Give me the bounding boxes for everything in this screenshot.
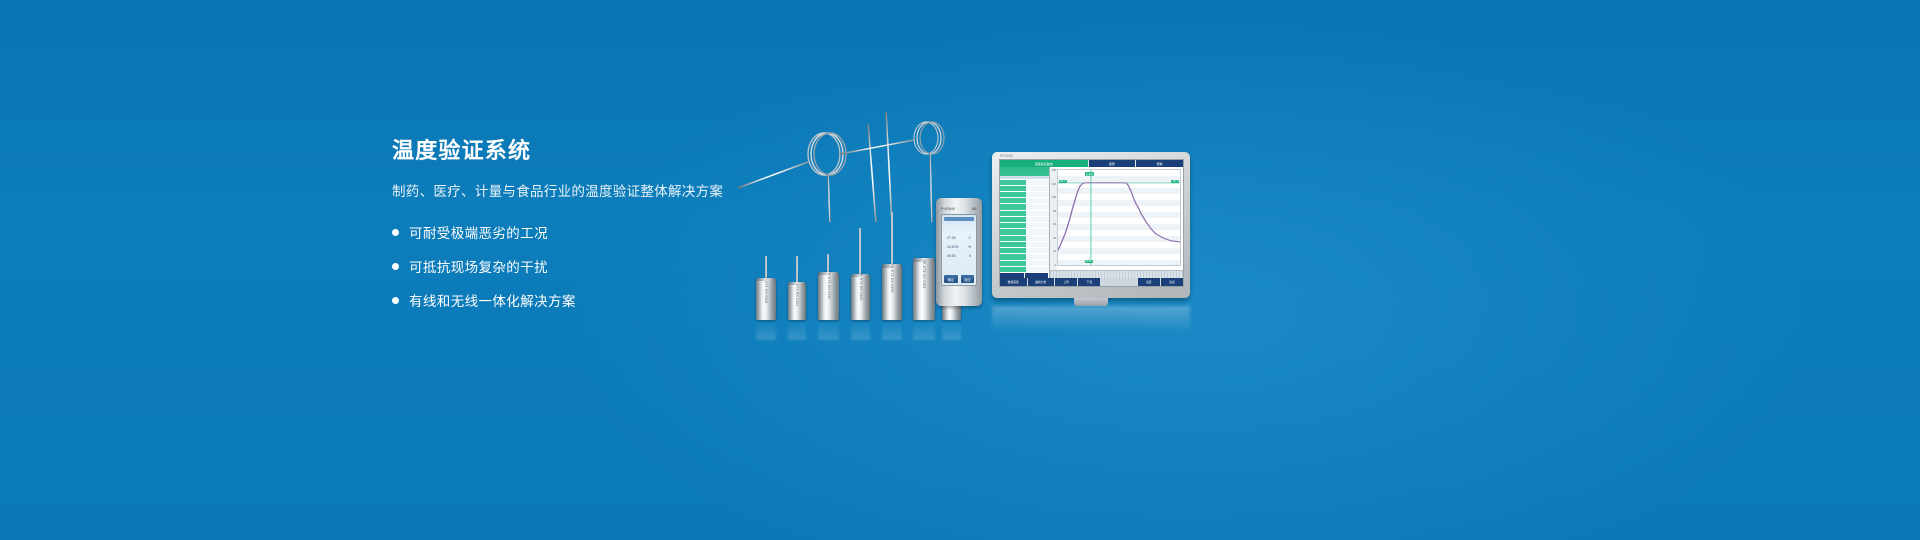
logger-label: PH-VT1 SN 0141 — [859, 272, 863, 301]
logger-label: PH-VT1 SN 0122 — [795, 278, 799, 307]
coil-probe-small — [840, 122, 944, 222]
handheld-brand: PHONIX — [941, 207, 955, 211]
button-exit[interactable]: 退出 — [1161, 278, 1183, 286]
monitor-brand: PHONIX — [1000, 154, 1013, 158]
limit-right-label: 121.0 — [1171, 180, 1179, 183]
product-image-group: PH-VT1 SN 0118 PH-VT1 SN 0122 PH-VT1 SN … — [700, 110, 1220, 320]
cursor-bottom-label: 00:00 — [1085, 260, 1093, 263]
y-tick: 80 — [1053, 210, 1056, 213]
software-screen: 温度验证曲线 报警 帮助 — [999, 159, 1184, 287]
button-spacer — [1101, 278, 1136, 286]
button-upload[interactable]: 上传 — [1055, 278, 1077, 286]
readout-label: 27.05 — [947, 236, 956, 240]
y-tick: 120 — [1052, 183, 1056, 186]
list-item-label: 可耐受极端恶劣的工况 — [409, 222, 548, 242]
data-logger: PH-VT1 SN 0156 — [882, 264, 902, 320]
bullet-dot-icon — [392, 297, 399, 304]
software-button-bar: 数据采集 曲线分析 上传 下载 设置 退出 — [1000, 278, 1183, 286]
data-logger: PH-VT1 SN 0163 — [913, 258, 935, 320]
coil-probe-large — [738, 133, 846, 222]
probe-stem — [827, 254, 829, 272]
handheld-screen: 27.05 C 10.10% % 00.00 h 确定 返回 — [941, 214, 977, 286]
handheld-statusbar — [944, 217, 974, 221]
list-item: 27.05 C — [947, 236, 971, 240]
button-settings[interactable]: 设置 — [1138, 278, 1160, 286]
y-tick: 20 — [1053, 250, 1056, 253]
probe-stem — [891, 212, 893, 264]
handheld-reader[interactable]: PHONIX M1 27.05 C 10.10% % 00.00 — [936, 198, 982, 306]
data-logger: PH-VT1 SN 0118 — [756, 278, 776, 320]
logger-label: PH-VT1 SN 0156 — [890, 264, 894, 293]
hero-banner: 温度验证系统 制药、医疗、计量与食品行业的温度验证整体解决方案 可耐受极端恶劣的… — [0, 0, 1920, 540]
list-item: 10.10% % — [947, 245, 971, 249]
readout-unit: h — [969, 254, 971, 258]
temperature-curve — [1058, 170, 1180, 265]
data-logger: PH-VT1 SN 0135 — [818, 272, 839, 320]
monitor-display: PHONIX 温度验证曲线 报警 帮助 — [992, 152, 1190, 298]
handheld-back-button[interactable]: 返回 — [961, 275, 975, 283]
probe-stem — [765, 256, 767, 278]
logger-label: PH-VT1 SN 0163 — [922, 259, 926, 288]
chart-scrollbar[interactable] — [1050, 270, 1183, 278]
table-body — [1000, 180, 1049, 274]
handheld-readout-list: 27.05 C 10.10% % 00.00 h — [944, 222, 974, 271]
cursor-top-label: 灭菌段 — [1085, 172, 1094, 176]
data-logger: PH-VT1 SN 0122 — [788, 282, 806, 320]
limit-left-label: 121.0 — [1059, 180, 1067, 183]
handheld-model: M1 — [972, 207, 977, 211]
logger-label: PH-VT1 SN 0135 — [827, 270, 831, 299]
button-curve-analysis[interactable]: 曲线分析 — [1028, 278, 1055, 286]
bullet-dot-icon — [392, 229, 399, 236]
chart-panel: 140 120 100 80 60 40 20 0 — [1050, 167, 1183, 278]
readout-unit: % — [968, 245, 971, 249]
toolbar-tab-alarm[interactable]: 报警 — [1089, 160, 1136, 167]
list-item: 00.00 h — [947, 254, 971, 258]
toolbar-tab-help[interactable]: 帮助 — [1136, 160, 1183, 167]
y-tick: 60 — [1053, 223, 1056, 226]
handheld-brand-row: PHONIX M1 — [941, 207, 977, 211]
list-item-label: 有线和无线一体化解决方案 — [409, 290, 576, 310]
y-tick: 0 — [1055, 264, 1056, 267]
software-toolbar: 温度验证曲线 报警 帮助 — [1000, 160, 1183, 167]
button-download[interactable]: 下载 — [1078, 278, 1100, 286]
chart-y-axis: 140 120 100 80 60 40 20 0 — [1050, 168, 1057, 270]
channel-table — [1000, 167, 1050, 278]
readout-label: 10.10% — [947, 245, 959, 249]
data-logger: PH-VT1 SN 0141 — [851, 274, 870, 320]
y-tick: 100 — [1052, 196, 1056, 199]
probe-stem — [796, 256, 798, 282]
probe-stem — [859, 228, 861, 274]
list-item-label: 可抵抗现场复杂的干扰 — [409, 256, 548, 276]
chart-canvas: 灭菌段 121.0 121.0 00:00 — [1057, 169, 1181, 266]
button-data-collect[interactable]: 数据采集 — [1000, 278, 1027, 286]
y-tick: 140 — [1052, 169, 1056, 172]
handheld-confirm-button[interactable]: 确定 — [944, 275, 958, 283]
monitor-reflection — [992, 306, 1190, 332]
logger-label: PH-VT1 SN 0118 — [764, 275, 768, 304]
toolbar-tab-curve[interactable]: 温度验证曲线 — [1000, 160, 1088, 167]
software-body: 140 120 100 80 60 40 20 0 — [1000, 167, 1183, 278]
handheld-button-row: 确定 返回 — [944, 275, 974, 283]
readout-label: 00.00 — [947, 254, 956, 258]
monitor-stand — [1074, 298, 1108, 306]
chart-plot: 140 120 100 80 60 40 20 0 — [1050, 168, 1182, 270]
y-tick: 40 — [1053, 237, 1056, 240]
readout-unit: C — [969, 236, 971, 240]
bullet-dot-icon — [392, 263, 399, 270]
